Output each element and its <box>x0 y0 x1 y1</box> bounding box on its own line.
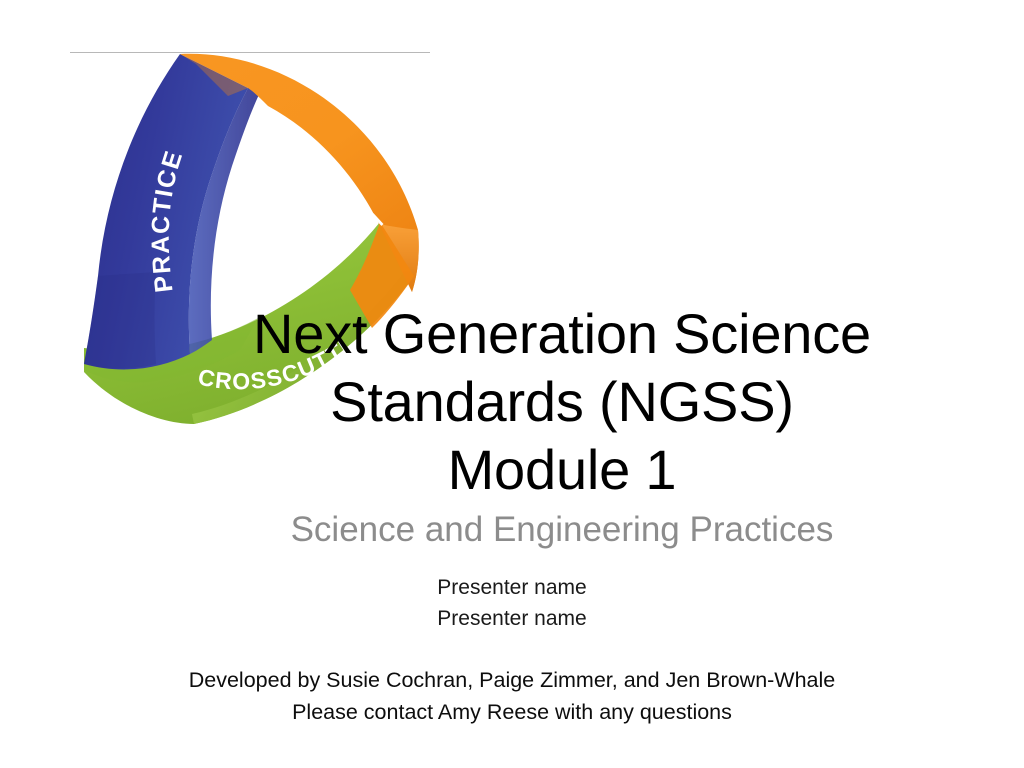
credits-contact: Please contact Amy Reese with any questi… <box>62 696 962 728</box>
credits-developed-by: Developed by Susie Cochran, Paige Zimmer… <box>62 664 962 696</box>
presenter-name-line-2: Presenter name <box>62 603 962 634</box>
presenter-block: Presenter name Presenter name <box>62 572 962 634</box>
presenter-name-line-1: Presenter name <box>62 572 962 603</box>
slide-title: Next Generation Science Standards (NGSS)… <box>112 300 1012 504</box>
slide-canvas: PRACTICES CONTENT CROSSCUTTING Next Gene… <box>0 0 1024 768</box>
credits-block: Developed by Susie Cochran, Paige Zimmer… <box>62 664 962 728</box>
slide-subtitle: Science and Engineering Practices <box>112 508 1012 552</box>
